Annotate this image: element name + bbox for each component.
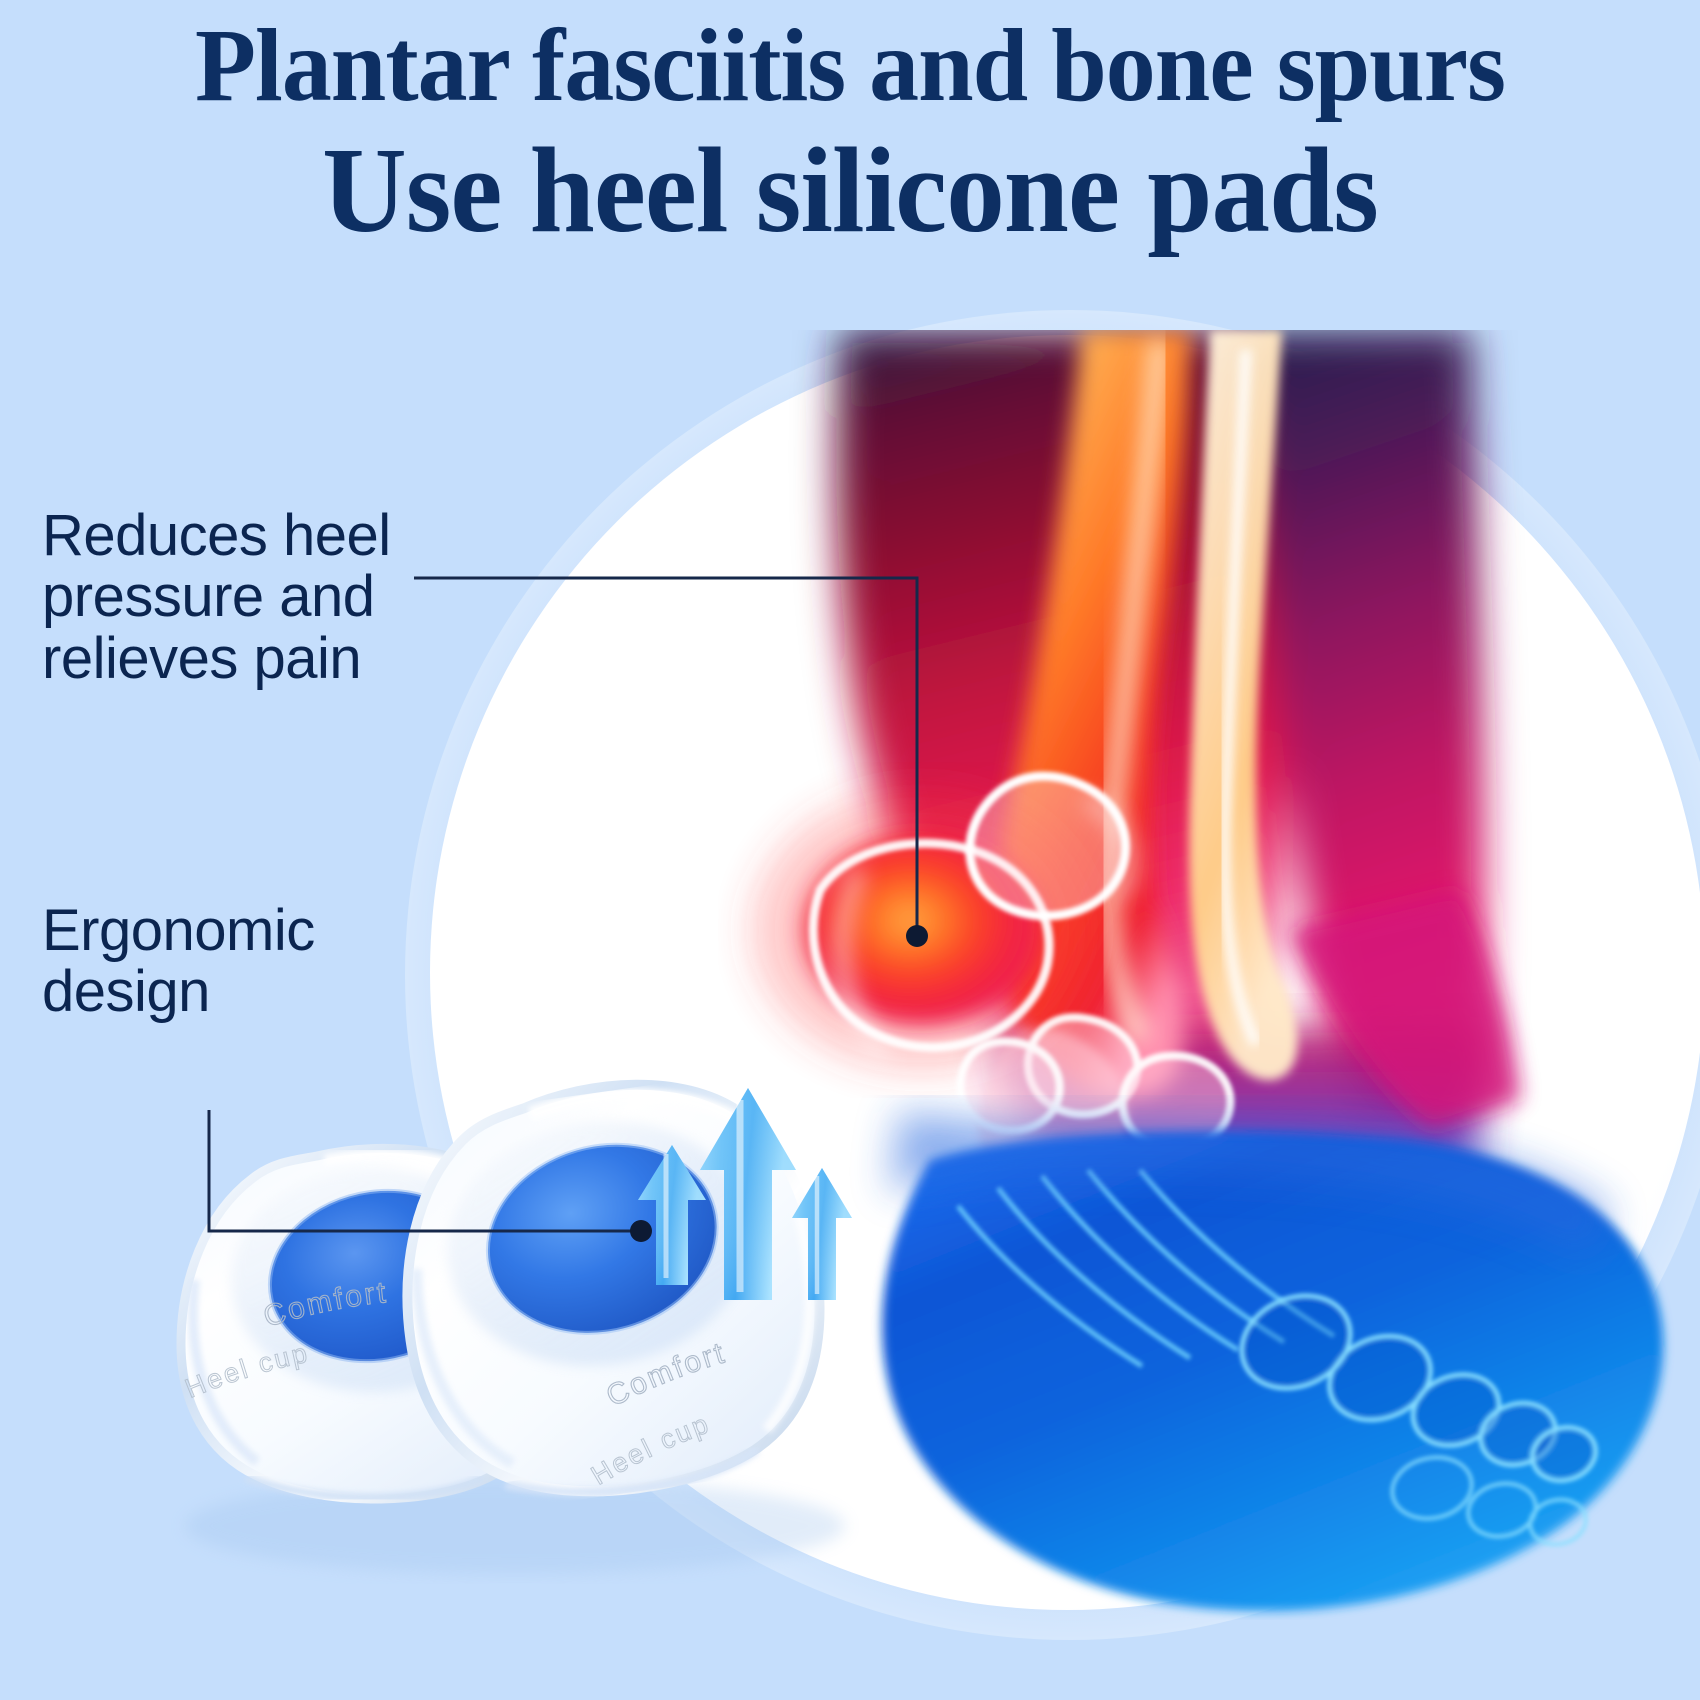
callout-ergonomic-design-label: Ergonomic design xyxy=(42,900,315,1023)
arrow-up-left-icon xyxy=(638,1145,706,1285)
headline-block: Plantar fasciitis and bone spurs Use hee… xyxy=(0,0,1700,252)
infographic-canvas: Comfort Heel cup xyxy=(0,0,1700,1700)
callout-reduces-heel-pressure-label: Reduces heel pressure and relieves pain xyxy=(42,505,391,689)
arrow-up-right-icon xyxy=(792,1168,852,1300)
headline-line-2: Use heel silicone pads xyxy=(34,130,1666,252)
headline-line-1: Plantar fasciitis and bone spurs xyxy=(34,14,1666,118)
airflow-arrows xyxy=(600,1050,900,1340)
arrow-up-center-icon xyxy=(700,1088,796,1300)
